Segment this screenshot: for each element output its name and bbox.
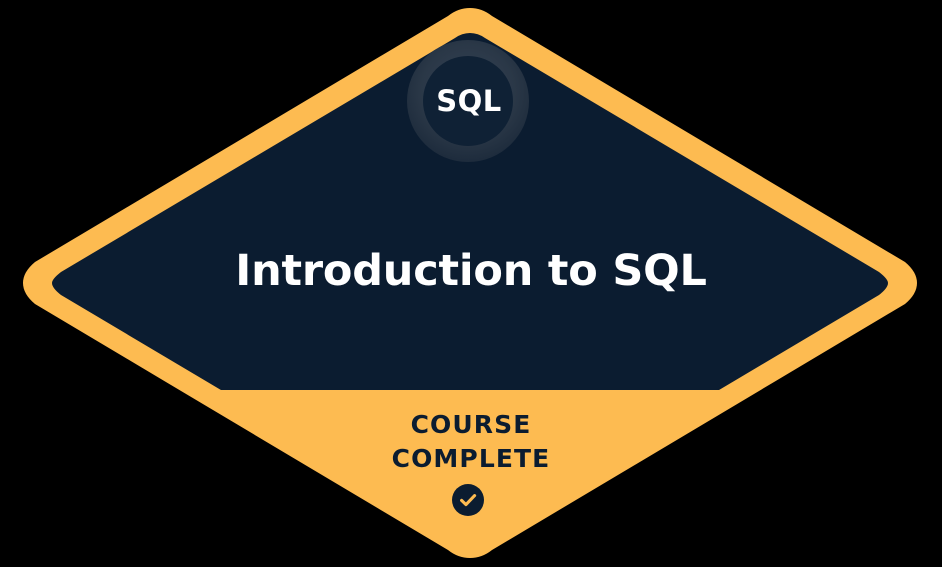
sql-chip-graphic	[407, 40, 529, 162]
certificate-badge-canvas: SQL Introduction to SQL COURSE COMPLETE	[0, 0, 942, 567]
course-completion-diamond	[0, 0, 942, 567]
